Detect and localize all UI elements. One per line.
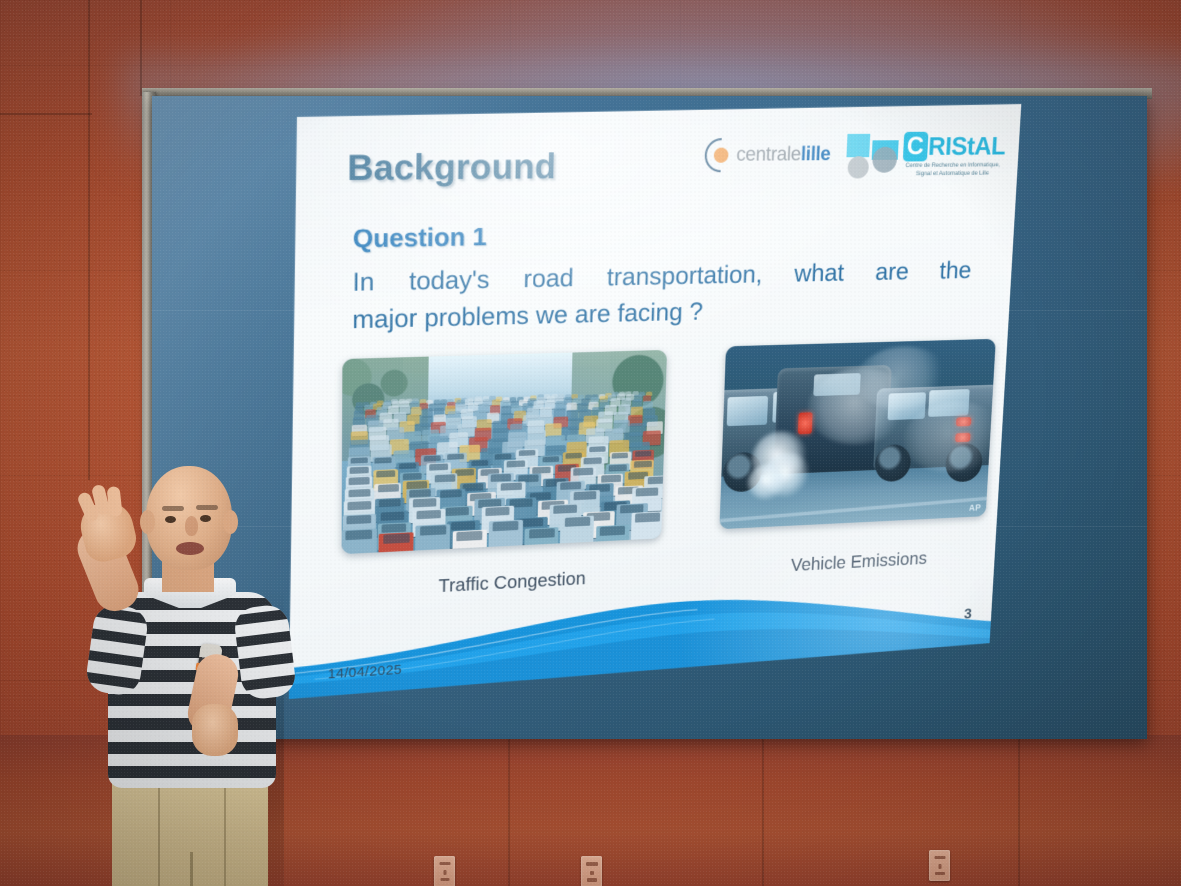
vehicle-emissions-caption: Vehicle Emissions [735, 546, 981, 579]
slide-logos: centralelille C RIStAL [702, 132, 1006, 178]
presenter [84, 466, 294, 886]
lower-wall-seam-4 [1018, 735, 1020, 886]
question-text: In today's road transportation, what are… [352, 253, 972, 339]
emissions-photo-art: AP [719, 339, 995, 529]
presenter-sleeve-right [233, 603, 298, 701]
slide-title: Background [347, 147, 556, 189]
presentation-room-photo: Background centralelille [0, 0, 1181, 886]
cristal-logo: C RIStAL Centre de Recherche en Informat… [845, 132, 1006, 177]
cristal-marks-icon [845, 132, 901, 177]
centralelille-text-b: lille [800, 143, 831, 165]
traffic-congestion-caption: Traffic Congestion [373, 566, 647, 602]
emissions-car-left-window-1 [727, 396, 768, 426]
traffic-photo-art [342, 350, 667, 554]
slide-page-number: 3 [964, 605, 973, 622]
centralelille-arc-icon [702, 137, 723, 173]
traffic-congestion-photo [342, 350, 667, 554]
presenter-ear-right [223, 510, 238, 534]
cristal-circle-1-icon [847, 156, 869, 178]
centralelille-logo: centralelille [702, 136, 831, 174]
cristal-tagline: Centre de Recherche en Informatique, Sig… [902, 162, 1004, 179]
presenter-brow-left [162, 506, 184, 511]
cristal-initial: C [903, 132, 929, 162]
wall-outlet-1 [434, 856, 455, 886]
presenter-mouth [176, 542, 204, 555]
wall-seam-left [88, 0, 90, 480]
lower-wall-seam-2 [508, 735, 510, 886]
presenter-eye-right [200, 515, 211, 522]
presenter-hand-right-holding-mic [192, 704, 238, 756]
centralelille-text-a: centrale [736, 143, 801, 165]
wall-seam-left-h [0, 113, 92, 115]
cristal-word: C RIStAL [903, 132, 1007, 162]
trouser-split [190, 852, 193, 886]
projected-slide: Background centralelille [286, 104, 1021, 699]
presenter-eye-left [165, 516, 176, 523]
cristal-wordmark: C RIStAL Centre de Recherche en Informat… [902, 132, 1006, 179]
presenter-brow-right [196, 505, 218, 510]
trouser-crease-left [158, 784, 160, 886]
lower-wall-seam-3 [762, 735, 764, 886]
trouser-crease-right [224, 784, 226, 886]
road-stripe [720, 496, 987, 522]
cristal-square-1-icon [846, 134, 870, 157]
cristal-rest: RIStAL [928, 132, 1007, 162]
question-label: Question 1 [353, 222, 487, 254]
traffic-vehicles [342, 384, 666, 554]
vehicle-emissions-photo: AP [719, 339, 995, 529]
wall-seam-mid [140, 0, 142, 96]
cristal-circle-2-icon [872, 147, 898, 173]
wall-outlet-2 [581, 856, 602, 886]
centralelille-wordmark: centralelille [736, 143, 831, 166]
presenter-ear-left [140, 510, 155, 534]
cristal-tagline-line-2: Signal et Automatique de Lille [902, 170, 1003, 179]
wall-outlet-3 [929, 850, 950, 881]
slide-canvas: Background centralelille [286, 104, 1021, 699]
presenter-nose [185, 516, 198, 536]
ap-watermark: AP [969, 503, 982, 513]
